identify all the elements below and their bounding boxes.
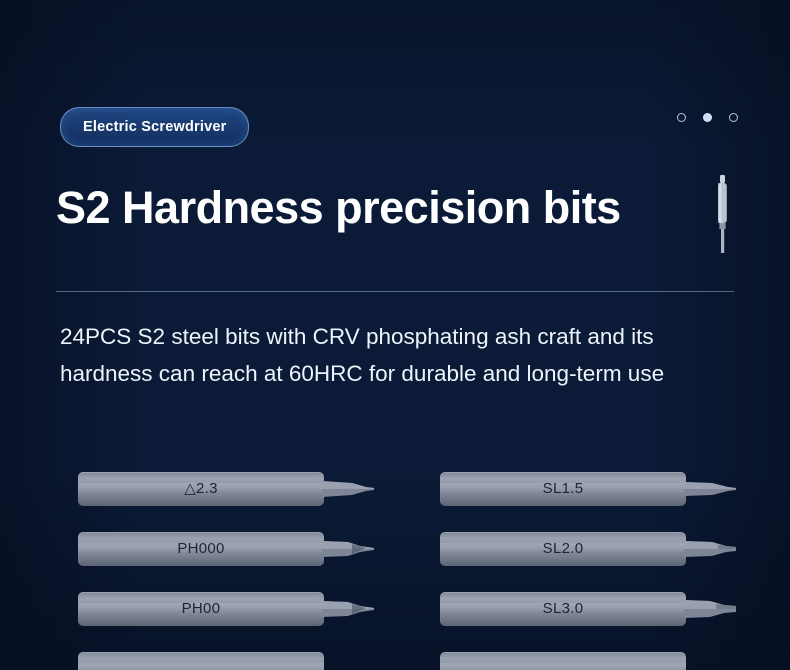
- bit-label: PH00: [78, 592, 324, 626]
- category-badge-label: Electric Screwdriver: [83, 119, 226, 135]
- phillips-tip-icon: [322, 537, 374, 561]
- bit-label: [440, 652, 686, 670]
- bit-label: SL3.0: [440, 592, 686, 626]
- carousel-dot-3[interactable]: [729, 113, 738, 122]
- slotted-tip-icon: [684, 537, 736, 561]
- slotted-tip-icon: [684, 477, 736, 501]
- bit-label: [78, 652, 324, 670]
- bit-label: SL1.5: [440, 472, 686, 506]
- description-text: 24PCS S2 steel bits with CRV phosphating…: [60, 318, 740, 392]
- section-divider: [56, 291, 734, 292]
- page-title: S2 Hardness precision bits: [56, 182, 621, 234]
- slotted-tip-icon: [684, 597, 736, 621]
- bit-label: SL2.0: [440, 532, 686, 566]
- triangle-tip-icon: [322, 477, 374, 501]
- screwdriver-icon: [713, 175, 733, 253]
- bit-label: PH000: [78, 532, 324, 566]
- bit-label: △2.3: [78, 472, 324, 506]
- category-badge: Electric Screwdriver: [60, 107, 249, 147]
- carousel-dot-2[interactable]: [703, 113, 712, 122]
- phillips-tip-icon: [322, 597, 374, 621]
- carousel-dots[interactable]: [677, 113, 738, 122]
- promo-banner: Electric Screwdriver S2 Hardness precisi…: [0, 0, 790, 670]
- carousel-dot-1[interactable]: [677, 113, 686, 122]
